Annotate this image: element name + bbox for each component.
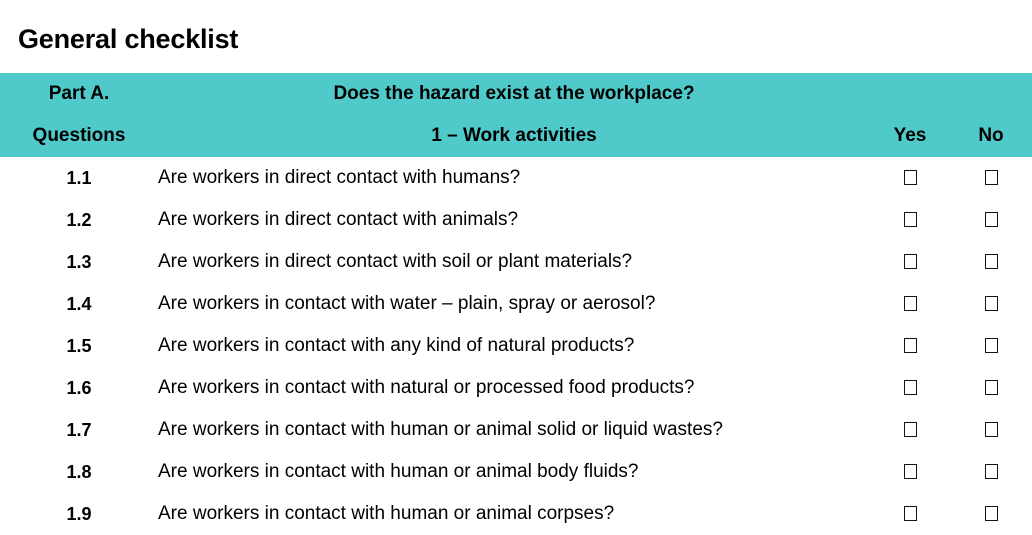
question-text: Are workers in contact with human or ani… [158, 409, 870, 451]
question-text: Are workers in direct contact with human… [158, 157, 870, 199]
question-text: Are workers in contact with water – plai… [158, 283, 870, 325]
yes-checkbox-cell [870, 199, 950, 241]
header-top-spacer-yes [870, 73, 950, 115]
no-checkbox[interactable] [985, 422, 998, 437]
yes-checkbox[interactable] [904, 212, 917, 227]
table-row: 1.4Are workers in contact with water – p… [0, 283, 1032, 325]
table-row: 1.9Are workers in contact with human or … [0, 493, 1032, 535]
yes-checkbox[interactable] [904, 254, 917, 269]
no-checkbox[interactable] [985, 506, 998, 521]
table-row: 1.7Are workers in contact with human or … [0, 409, 1032, 451]
no-checkbox-cell [950, 157, 1032, 199]
table-row: 1.1Are workers in direct contact with hu… [0, 157, 1032, 199]
question-text: Are workers in contact with human or ani… [158, 493, 870, 535]
yes-checkbox-cell [870, 493, 950, 535]
header-section-label: 1 – Work activities [158, 115, 870, 157]
table-row: 1.5Are workers in contact with any kind … [0, 325, 1032, 367]
header-questions-label: Questions [0, 115, 158, 157]
no-checkbox-cell [950, 199, 1032, 241]
yes-checkbox[interactable] [904, 422, 917, 437]
no-checkbox-cell [950, 493, 1032, 535]
no-checkbox-cell [950, 241, 1032, 283]
question-text: Are workers in contact with any kind of … [158, 325, 870, 367]
yes-checkbox[interactable] [904, 296, 917, 311]
yes-checkbox-cell [870, 367, 950, 409]
question-number: 1.5 [0, 325, 158, 367]
header-hazard-question: Does the hazard exist at the workplace? [158, 73, 870, 115]
question-number: 1.7 [0, 409, 158, 451]
question-text: Are workers in direct contact with anima… [158, 199, 870, 241]
yes-checkbox[interactable] [904, 506, 917, 521]
table-row: 1.2Are workers in direct contact with an… [0, 199, 1032, 241]
yes-checkbox-cell [870, 325, 950, 367]
table-header-row-top: Part A. Does the hazard exist at the wor… [0, 73, 1032, 115]
question-number: 1.6 [0, 367, 158, 409]
yes-checkbox-cell [870, 157, 950, 199]
yes-checkbox-cell [870, 451, 950, 493]
no-checkbox[interactable] [985, 254, 998, 269]
checklist-page: General checklist Part A. Does the hazar… [0, 0, 1032, 532]
no-checkbox[interactable] [985, 380, 998, 395]
header-part-label: Part A. [0, 73, 158, 115]
no-checkbox-cell [950, 283, 1032, 325]
question-number: 1.3 [0, 241, 158, 283]
page-title: General checklist [18, 22, 238, 56]
table-row: 1.3Are workers in direct contact with so… [0, 241, 1032, 283]
table-body: 1.1Are workers in direct contact with hu… [0, 157, 1032, 535]
yes-checkbox-cell [870, 409, 950, 451]
table-row: 1.6Are workers in contact with natural o… [0, 367, 1032, 409]
yes-checkbox[interactable] [904, 464, 917, 479]
header-no-label: No [950, 115, 1032, 157]
question-number: 1.1 [0, 157, 158, 199]
no-checkbox[interactable] [985, 212, 998, 227]
no-checkbox-cell [950, 325, 1032, 367]
question-number: 1.2 [0, 199, 158, 241]
no-checkbox[interactable] [985, 464, 998, 479]
no-checkbox-cell [950, 409, 1032, 451]
header-yes-label: Yes [870, 115, 950, 157]
question-text: Are workers in contact with human or ani… [158, 451, 870, 493]
yes-checkbox-cell [870, 283, 950, 325]
yes-checkbox[interactable] [904, 380, 917, 395]
header-top-spacer-no [950, 73, 1032, 115]
table-header-row-bottom: Questions 1 – Work activities Yes No [0, 115, 1032, 157]
question-text: Are workers in direct contact with soil … [158, 241, 870, 283]
no-checkbox[interactable] [985, 338, 998, 353]
yes-checkbox[interactable] [904, 170, 917, 185]
yes-checkbox-cell [870, 241, 950, 283]
no-checkbox[interactable] [985, 296, 998, 311]
table-header: Part A. Does the hazard exist at the wor… [0, 73, 1032, 157]
question-text: Are workers in contact with natural or p… [158, 367, 870, 409]
no-checkbox[interactable] [985, 170, 998, 185]
no-checkbox-cell [950, 451, 1032, 493]
no-checkbox-cell [950, 367, 1032, 409]
yes-checkbox[interactable] [904, 338, 917, 353]
question-number: 1.8 [0, 451, 158, 493]
general-checklist-table: Part A. Does the hazard exist at the wor… [0, 73, 1032, 535]
question-number: 1.9 [0, 493, 158, 535]
question-number: 1.4 [0, 283, 158, 325]
table-row: 1.8Are workers in contact with human or … [0, 451, 1032, 493]
